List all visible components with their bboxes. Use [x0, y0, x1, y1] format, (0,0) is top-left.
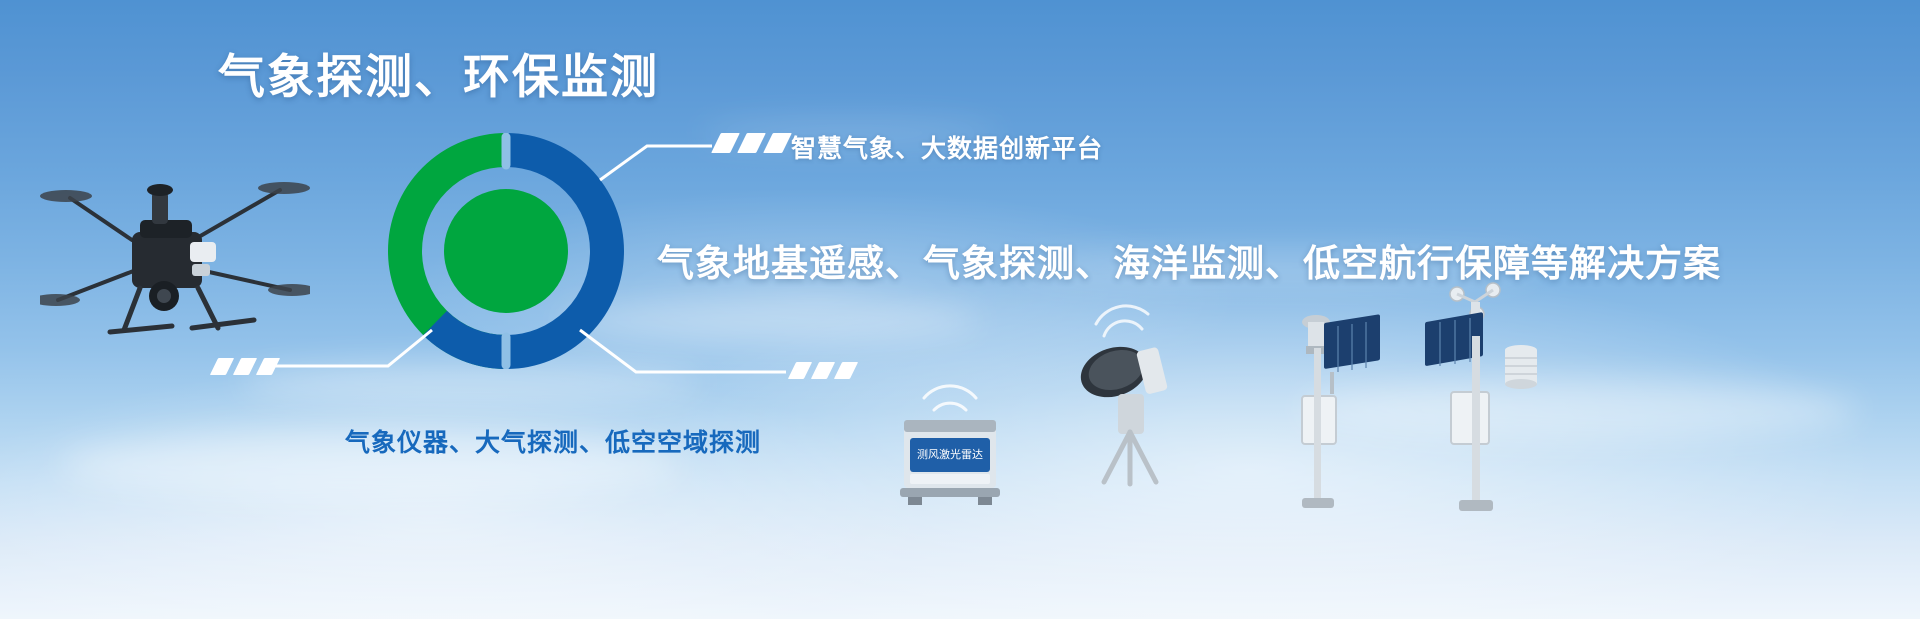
device-solar-station-b — [1415, 280, 1545, 515]
page-title: 气象探测、环保监测 — [218, 50, 659, 104]
headline-text: 气象地基遥感、气象探测、海洋监测、低空航行保障等解决方案 — [657, 233, 1721, 287]
device-satellite-dish — [1070, 300, 1190, 490]
drone-photo — [40, 150, 310, 350]
slashes-top — [716, 133, 787, 153]
callout-bottom-label: 气象仪器、大气探测、低空空域探测 — [345, 423, 761, 459]
slashes-bottom-left — [214, 358, 276, 375]
device-solar-station-a — [1280, 300, 1390, 515]
donut-ring-graphic — [388, 133, 624, 369]
svg-text:测风激光雷达: 测风激光雷达 — [917, 447, 983, 461]
device-laser-radar: 测风激光雷达 — [890, 380, 1010, 505]
callout-top-label: 智慧气象、大数据创新平台 — [791, 129, 1103, 165]
slashes-bottom-right — [792, 362, 854, 379]
banner-root: 气象探测、环保监测 智慧气象、大数据创新平台 气象地基遥感、气象探测、海洋监测、… — [0, 0, 1920, 619]
